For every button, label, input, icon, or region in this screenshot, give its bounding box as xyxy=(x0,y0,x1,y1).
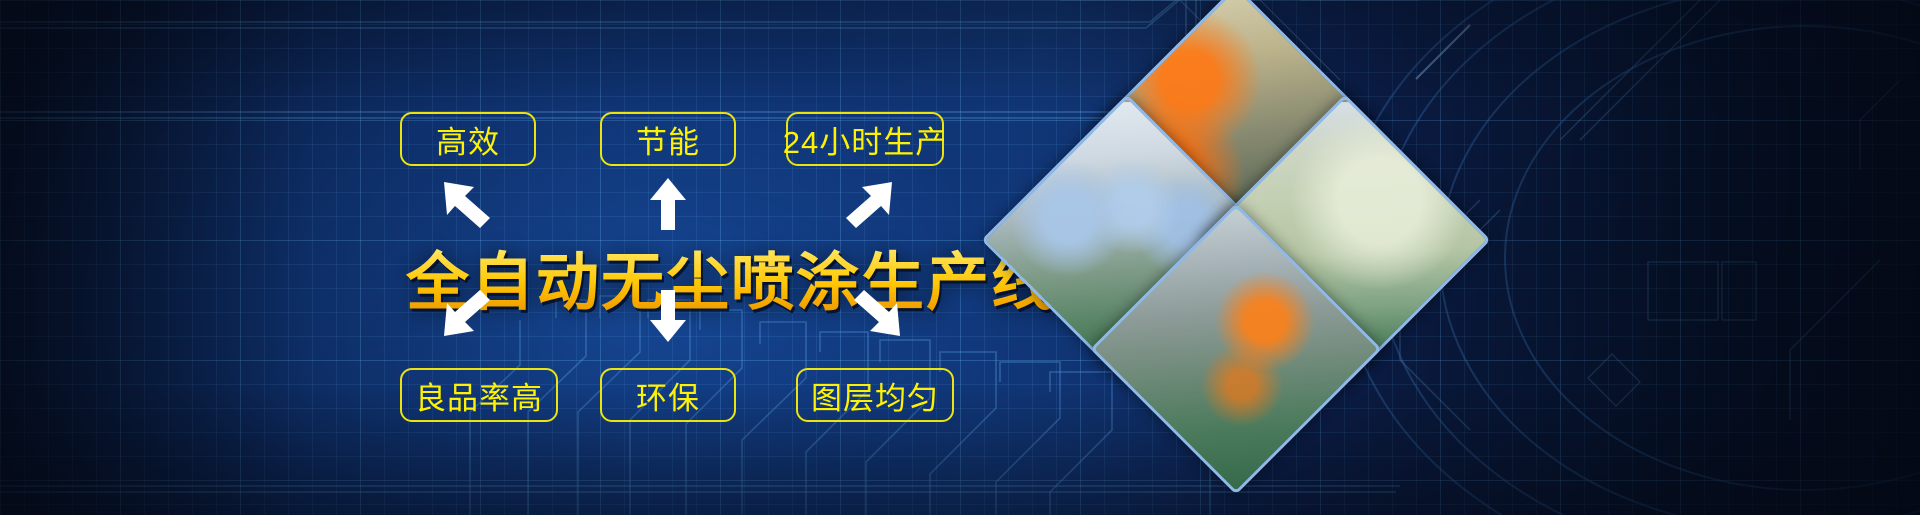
arrow-down-left xyxy=(440,288,496,340)
feature-label-jieneng: 节能 xyxy=(636,117,700,162)
feature-box-gaoxiao[interactable]: 高效 xyxy=(400,112,536,166)
arrow-up xyxy=(648,176,688,232)
feature-label-yield: 良品率高 xyxy=(415,373,543,418)
feature-label-gaoxiao: 高效 xyxy=(436,117,500,162)
feature-box-uniform[interactable]: 图层均匀 xyxy=(796,368,954,422)
photo-collage xyxy=(1030,34,1442,446)
arrow-down-right xyxy=(848,288,904,340)
feature-label-huanbao: 环保 xyxy=(636,373,700,418)
feature-label-24hour: 24小时生产 xyxy=(783,117,947,162)
feature-box-jieneng[interactable]: 节能 xyxy=(600,112,736,166)
feature-box-yield[interactable]: 良品率高 xyxy=(400,368,558,422)
promo-banner: 高效 节能 24小时生产 良品率高 环保 图层均匀 全自动无尘喷涂生产线 xyxy=(0,0,1920,515)
feature-box-24hour[interactable]: 24小时生产 xyxy=(786,112,944,166)
arrow-down xyxy=(648,288,688,344)
arrow-up-right xyxy=(840,178,896,230)
feature-box-huanbao[interactable]: 环保 xyxy=(600,368,736,422)
page-title: 全自动无尘喷涂生产线 xyxy=(406,232,1056,323)
arrow-up-left xyxy=(440,178,496,230)
feature-label-uniform: 图层均匀 xyxy=(811,373,939,418)
